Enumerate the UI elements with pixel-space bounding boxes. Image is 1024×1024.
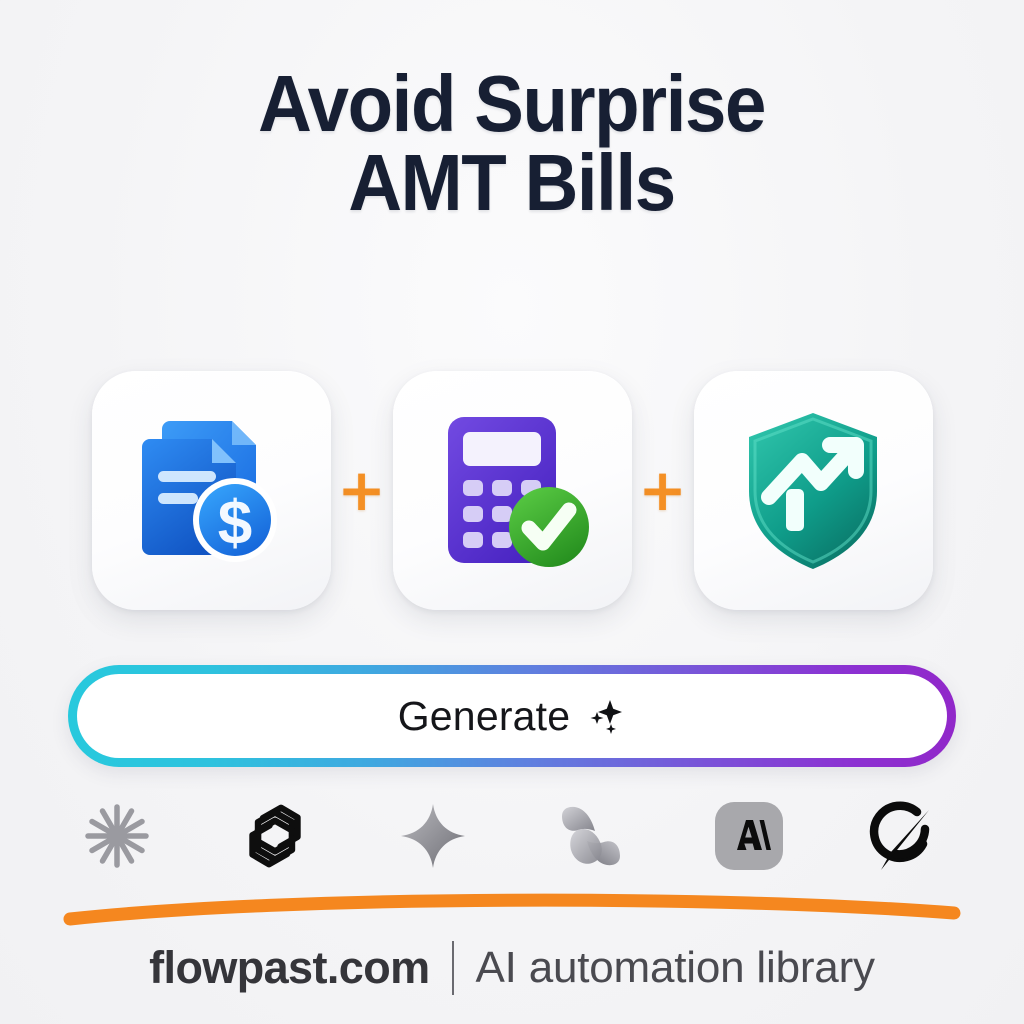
anthropic-badge-icon [713, 800, 785, 872]
claude-sunburst-icon [78, 797, 156, 875]
footer-tagline: AI automation library [476, 943, 875, 993]
logo-anthropic[interactable] [694, 791, 804, 881]
logo-openai[interactable] [220, 791, 330, 881]
footer: flowpast.com AI automation library [0, 928, 1024, 1008]
logo-claude[interactable] [62, 791, 172, 881]
pipeline-card-calculator-check[interactable] [393, 371, 632, 610]
logo-gemini[interactable] [378, 791, 488, 881]
gemini-star-icon [397, 800, 469, 872]
generate-button-gradient-frame: Generate [68, 665, 956, 767]
openai-knot-icon [238, 799, 312, 873]
calculator-check-icon [423, 401, 601, 579]
pipeline-card-shield-growth[interactable] [694, 371, 933, 610]
shield-growth-icon [724, 401, 902, 579]
generate-button[interactable]: Generate [77, 674, 947, 758]
footer-divider [452, 941, 454, 995]
microsoft-copilot-ribbon-icon [548, 800, 634, 872]
page-title-line-1: Avoid Surprise [259, 64, 766, 143]
page-title: Avoid Surprise AMT Bills [259, 64, 766, 222]
pipeline-separator-1: + [331, 461, 393, 519]
logo-copilot[interactable] [536, 791, 646, 881]
circle-slash-icon [867, 796, 947, 876]
partner-logo-strip [62, 788, 962, 884]
generate-button-label: Generate [398, 693, 571, 740]
pipeline-row: $ + [0, 368, 1024, 612]
logo-circle-slash[interactable] [852, 791, 962, 881]
documents-dollar-icon: $ [122, 401, 300, 579]
footer-underline-swoosh [62, 893, 962, 933]
pipeline-separator-2: + [632, 461, 694, 519]
pipeline-card-documents-dollar[interactable]: $ [92, 371, 331, 610]
page-title-line-2: AMT Bills [259, 143, 766, 222]
poster-canvas: Avoid Surprise AMT Bills [0, 0, 1024, 1024]
svg-text:$: $ [218, 489, 252, 558]
brand-name[interactable]: flowpast.com [149, 942, 429, 994]
sparkles-icon [586, 696, 626, 736]
